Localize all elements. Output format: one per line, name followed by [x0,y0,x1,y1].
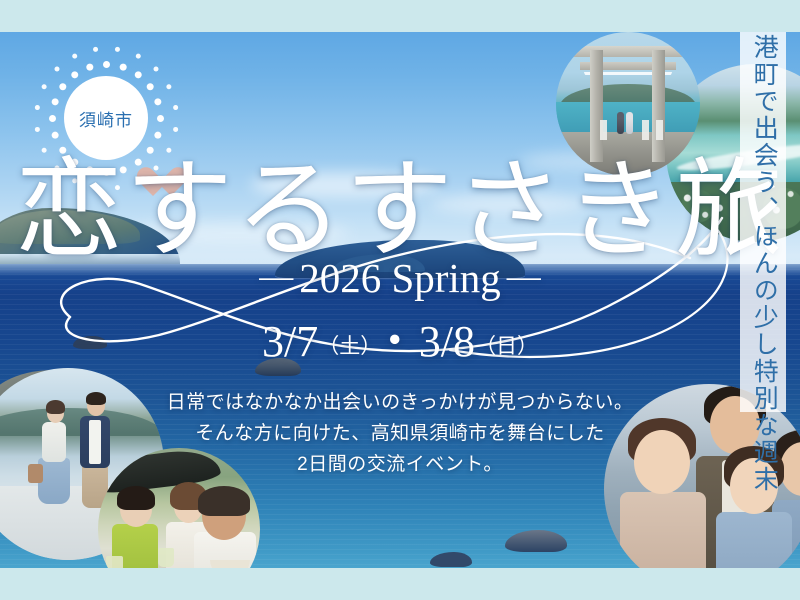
photo-person-hair [117,486,155,510]
event-dates: 3/7（土）・3/8（日） [262,320,538,364]
photo-person-hair [198,486,250,516]
date-day1-weekday: （土） [318,335,371,358]
lead-line: そんな方に向けた、高知県須崎市を舞台にした [140,419,660,450]
season-label: 2026 Spring [299,255,501,301]
poster-canvas: 須崎市 [0,0,800,600]
date-separator: ・ [371,317,419,366]
sea-rock [430,552,472,567]
top-color-band [0,0,800,32]
dash-right: — [501,258,547,295]
date-day2: 3/8 [419,317,475,366]
bottom-color-band [0,568,800,600]
date-day2-weekday: （日） [475,335,538,358]
season-subtitle: —2026 Spring— [253,258,547,299]
date-day1: 3/7 [262,317,318,366]
page-title: 恋するすさき旅 [15,158,785,266]
photo-cup [158,548,174,567]
photo-handbag [28,464,43,483]
vertical-tagline: 港町で出会う、ほんの少し特別な週末 [750,34,777,493]
dash-left: — [253,258,299,295]
vertical-tagline-band: 港町で出会う、ほんの少し特別な週末 [740,18,786,412]
lead-line: 2日間の交流イベント。 [140,450,660,481]
lead-paragraph: 日常ではなかなか出会いのきっかけが見つからない。 そんな方に向けた、高知県須崎市… [140,388,660,480]
lead-line: 日常ではなかなか出会いのきっかけが見つからない。 [140,388,660,419]
